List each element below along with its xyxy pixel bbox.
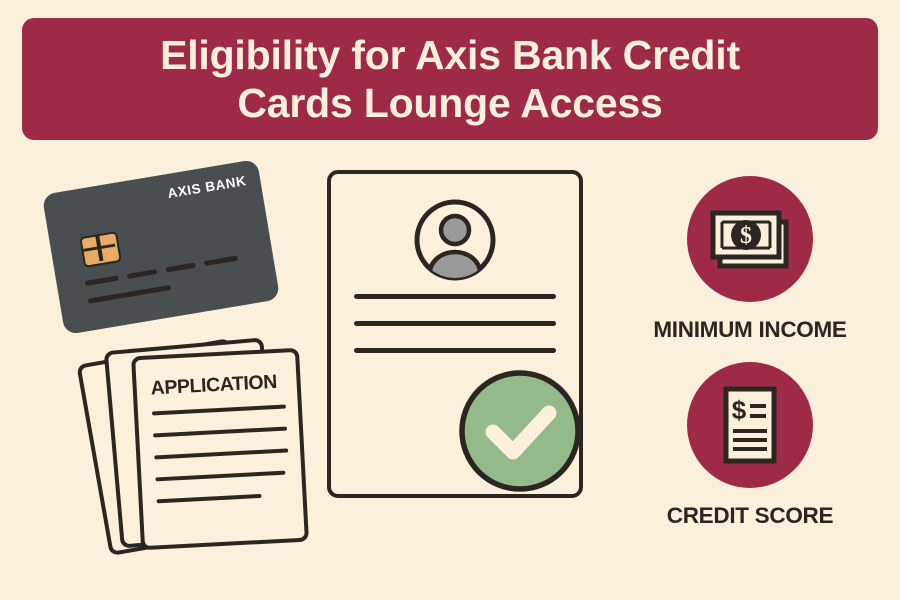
application-title: APPLICATION <box>150 371 277 401</box>
card-number-dash <box>204 255 238 266</box>
application-line <box>153 426 287 437</box>
card-brand-label: AXIS BANK <box>166 173 247 201</box>
application-line <box>152 404 286 415</box>
emv-chip-icon <box>79 231 122 268</box>
application-line <box>154 448 288 459</box>
feature-label-credit-score: CREDIT SCORE <box>620 503 880 529</box>
infographic-canvas: Eligibility for Axis Bank Credit Cards L… <box>0 0 900 600</box>
profile-line <box>354 321 556 326</box>
check-circle-icon <box>457 368 583 494</box>
title-banner: Eligibility for Axis Bank Credit Cards L… <box>22 18 878 140</box>
page-title: Eligibility for Axis Bank Credit Cards L… <box>136 31 764 127</box>
profile-line <box>354 294 556 299</box>
application-paper-front: APPLICATION <box>131 348 309 551</box>
banknotes-icon: $ <box>698 187 802 291</box>
card-name-line <box>88 285 172 304</box>
application-line <box>157 494 262 503</box>
statement-document-icon: $ <box>698 373 802 477</box>
application-line <box>155 471 285 482</box>
card-number-dash <box>127 269 157 279</box>
card-number-dash <box>85 275 119 286</box>
user-avatar-icon <box>413 198 497 282</box>
credit-card-graphic: AXIS BANK <box>42 159 280 335</box>
feature-label-minimum-income: MINIMUM INCOME <box>620 317 880 343</box>
application-text-lines <box>152 404 292 521</box>
profile-text-lines <box>354 294 556 375</box>
feature-credit-score: $ CREDIT SCORE <box>620 362 880 529</box>
feature-circle-income: $ <box>687 176 813 302</box>
income-currency-symbol: $ <box>740 223 752 249</box>
card-number-dash <box>165 263 195 273</box>
profile-line <box>354 348 556 353</box>
score-currency-symbol: $ <box>732 395 747 425</box>
feature-minimum-income: $ MINIMUM INCOME <box>620 176 880 343</box>
feature-circle-score: $ <box>687 362 813 488</box>
